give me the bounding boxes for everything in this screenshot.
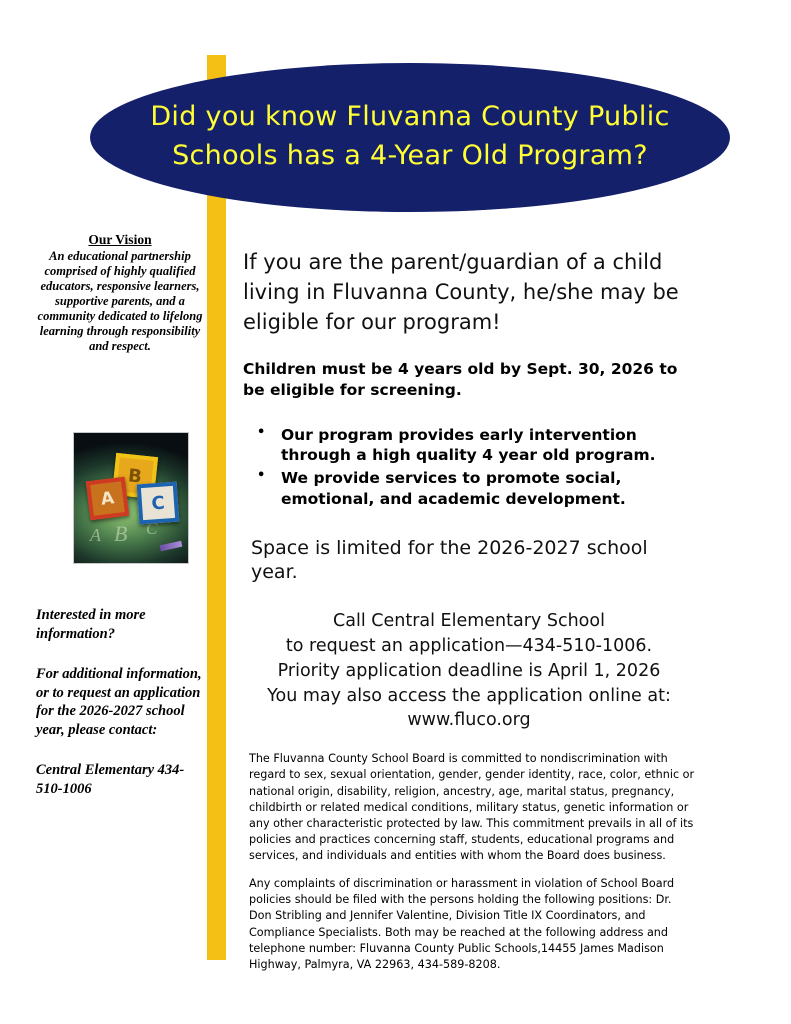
nondiscrimination-notice: The Fluvanna County School Board is comm… xyxy=(243,751,695,864)
vision-statement: Our Vision An educational partnership co… xyxy=(36,232,204,354)
headline-text: Did you know Fluvanna County Public Scho… xyxy=(130,98,690,177)
block-letter-c: C xyxy=(137,482,180,525)
interested-heading: Interested in more information? xyxy=(36,606,208,643)
chalk-scribble-b: B xyxy=(114,521,127,547)
space-limited-notice: Space is limited for the 2026-2027 schoo… xyxy=(251,536,695,585)
contact-call-to-action: Call Central Elementary School to reques… xyxy=(243,609,695,733)
complaints-notice: Any complaints of discrimination or hara… xyxy=(243,876,695,973)
sidebar-school-contact: Central Elementary 434-510-1006 xyxy=(36,761,208,798)
contact-line-2: to request an application—434-510-1006. xyxy=(243,634,695,659)
headline-banner: Did you know Fluvanna County Public Scho… xyxy=(90,63,730,212)
eligibility-subhead: Children must be 4 years old by Sept. 30… xyxy=(243,359,695,400)
sidebar-column: Our Vision An educational partnership co… xyxy=(36,232,204,354)
contact-line-3: Priority application deadline is April 1… xyxy=(243,659,695,684)
chalk-scribble-a: A xyxy=(90,525,101,546)
contact-line-4: You may also access the application onli… xyxy=(243,684,695,709)
headline-line-1: Did you know Fluvanna County Public xyxy=(150,101,669,132)
flyer-page: Did you know Fluvanna County Public Scho… xyxy=(0,0,791,1024)
website-link[interactable]: www.fluco.org xyxy=(243,708,695,733)
block-letter-a: A xyxy=(86,477,129,520)
sidebar-contact-block: Interested in more information? For addi… xyxy=(36,606,208,798)
vision-body: An educational partnership comprised of … xyxy=(38,249,203,353)
list-item: We provide services to promote social, e… xyxy=(277,468,695,510)
main-column: If you are the parent/guardian of a chil… xyxy=(243,248,695,985)
headline-line-2: Schools has a 4-Year Old Program? xyxy=(172,140,648,171)
additional-info-text: For additional information, or to reques… xyxy=(36,665,208,739)
alphabet-blocks-photo: A B C B A C xyxy=(73,432,189,564)
pencil-icon xyxy=(160,541,183,551)
list-item: Our program provides early intervention … xyxy=(277,425,695,467)
contact-line-1: Call Central Elementary School xyxy=(243,609,695,634)
vision-title: Our Vision xyxy=(36,232,204,248)
program-benefits-list: Our program provides early intervention … xyxy=(243,425,695,510)
lead-paragraph: If you are the parent/guardian of a chil… xyxy=(243,248,695,337)
